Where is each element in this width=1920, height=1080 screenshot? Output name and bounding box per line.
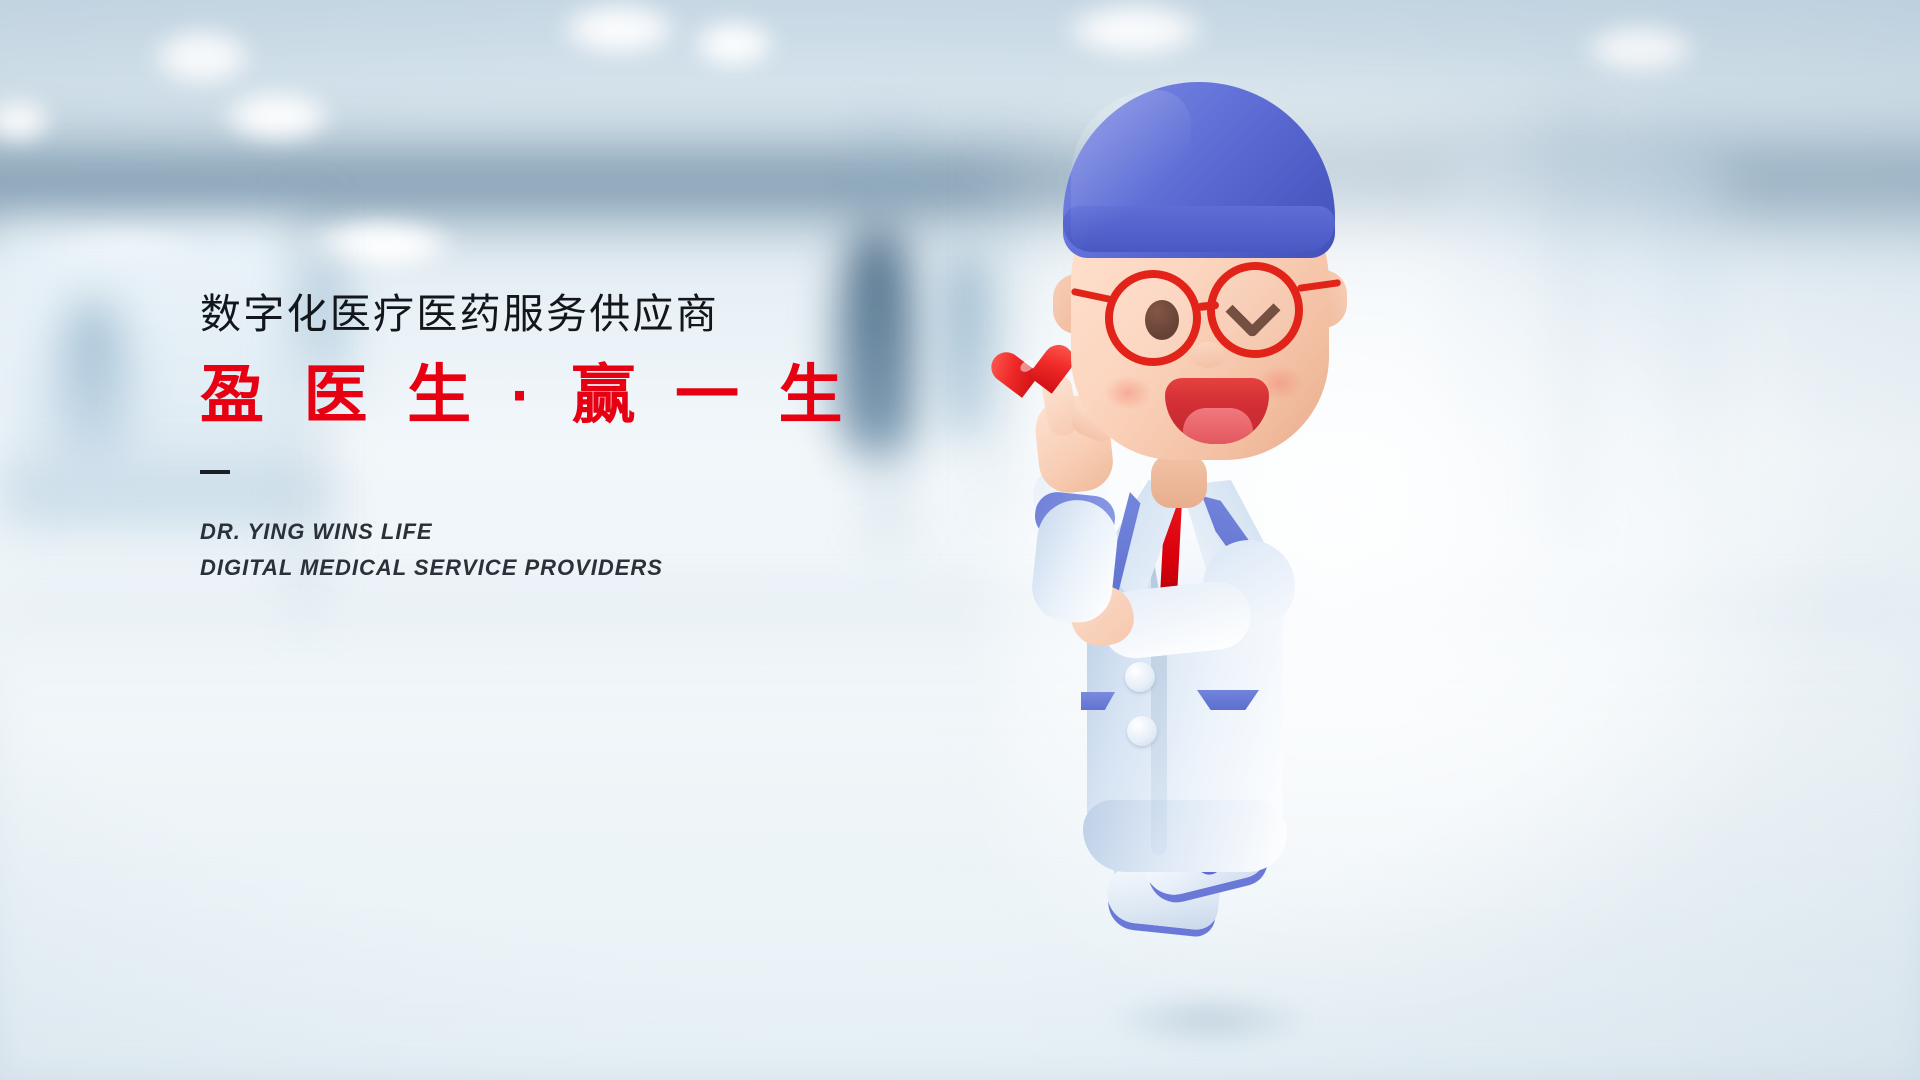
slogan-chinese: 盈 医 生 · 赢 一 生 [200,360,1020,432]
nose [1191,342,1225,368]
coat-button [1125,662,1155,692]
subtitle-line-2: DIGITAL MEDICAL SERVICE PROVIDERS [200,550,1020,586]
doctor-mascot-illustration [975,30,1395,1060]
lab-coat-hem [1083,800,1287,872]
coat-button [1127,716,1157,746]
subtitle-line-1: DR. YING WINS LIFE [200,514,1020,550]
medical-cap-highlight [1071,90,1191,250]
mascot-shadow [1105,990,1315,1050]
heart-icon [1001,342,1067,408]
divider-rule [200,470,230,474]
hero-copy-block: 数字化医疗医药服务供应商 盈 医 生 · 赢 一 生 DR. YING WINS… [200,290,1020,585]
headline-chinese: 数字化医疗医药服务供应商 [200,290,1020,338]
subtitle-english: DR. YING WINS LIFE DIGITAL MEDICAL SERVI… [200,514,1020,585]
glasses-lens-left [1105,270,1201,366]
tongue [1183,408,1253,444]
heart-highlight [1018,357,1036,374]
glasses-lens-right [1207,262,1303,358]
hero-banner: 数字化医疗医药服务供应商 盈 医 生 · 赢 一 生 DR. YING WINS… [0,0,1920,1080]
cheek-blush-left [1105,376,1151,410]
neck [1151,454,1207,508]
